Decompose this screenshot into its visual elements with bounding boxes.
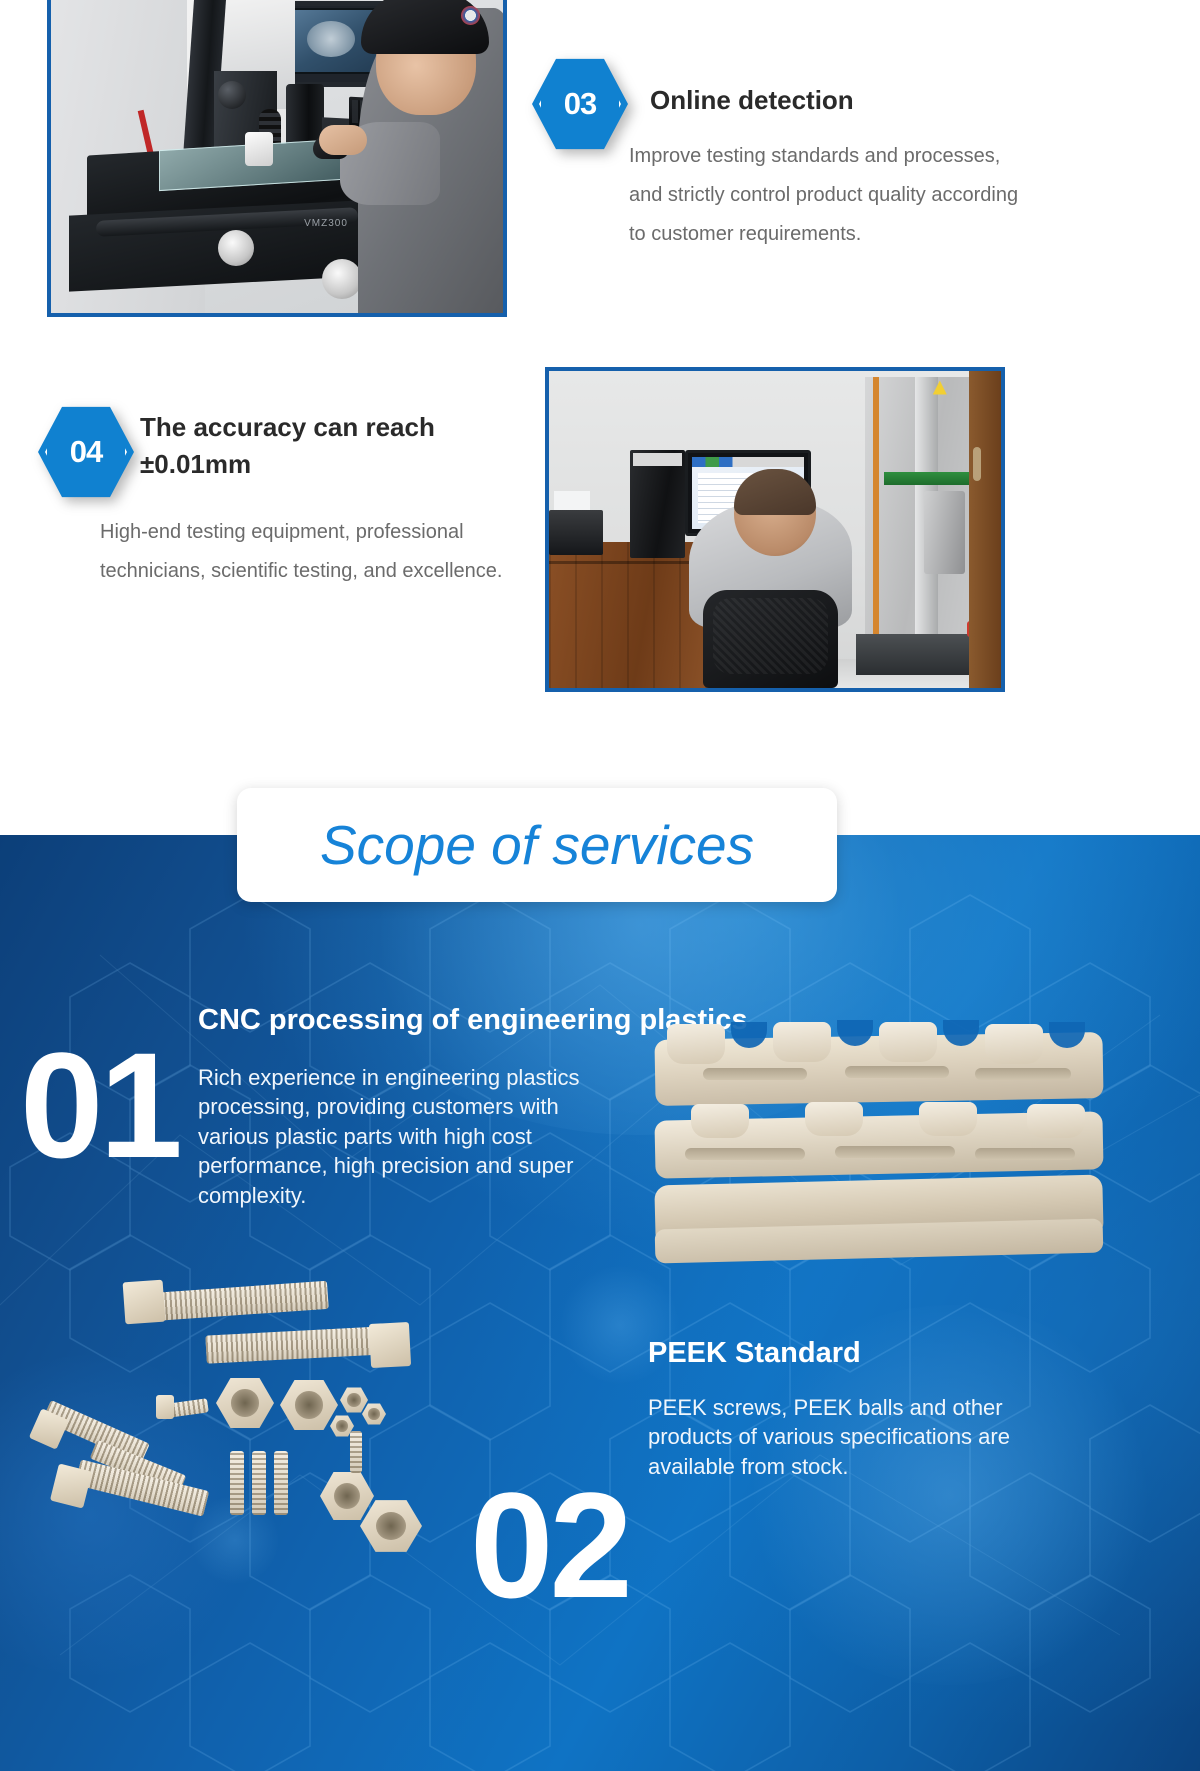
product-image-peek-chain-part	[655, 1028, 1103, 1268]
service-body-cnc: Rich experience in engineering plastics …	[198, 1063, 628, 1210]
product-image-peek-screws	[40, 1275, 460, 1565]
photo-frame-accuracy	[545, 367, 1005, 692]
features-section: VMZ300 03 Online detection Improve testi…	[0, 0, 1200, 835]
service-number-01: 01	[20, 1030, 179, 1180]
service-title-peek: PEEK Standard	[648, 1337, 1068, 1370]
feature-title-online-detection: Online detection	[650, 82, 1120, 119]
feature-body-online-detection: Improve testing standards and processes,…	[629, 137, 1021, 254]
scope-title-card: Scope of services	[237, 788, 837, 902]
feature-body-accuracy: High-end testing equipment, professional…	[100, 513, 524, 591]
hex-badge-04: 04	[38, 404, 134, 500]
photo-tensile-testing-machine	[549, 371, 1001, 688]
service-number-02: 02	[470, 1470, 629, 1620]
hex-badge-number: 03	[532, 56, 628, 152]
scope-heading: Scope of services	[320, 813, 754, 877]
photo-frame-online-detection: VMZ300	[47, 0, 507, 317]
feature-title-accuracy: The accuracy can reach ±0.01mm	[140, 409, 490, 483]
photo-optical-measuring-machine: VMZ300	[51, 0, 503, 313]
service-body-peek: PEEK screws, PEEK balls and other produc…	[648, 1393, 1068, 1481]
hex-badge-number: 04	[38, 404, 134, 500]
machine-model-label: VMZ300	[304, 218, 348, 229]
hex-badge-03: 03	[532, 56, 628, 152]
